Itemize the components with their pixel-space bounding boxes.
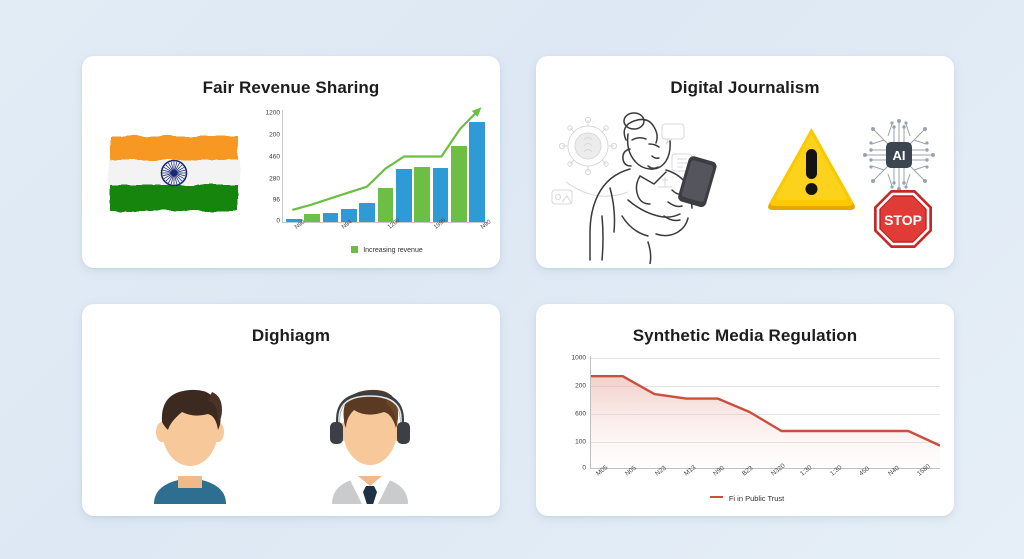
card-title-synthetic-media-regulation: Synthetic Media Regulation [536,326,954,346]
stop-sign-label: STOP [884,212,922,228]
journalist-illustration [544,104,754,264]
y-tick: 1000 [572,355,586,362]
card-body-dighiagm [82,352,500,510]
avatar-person-headset [304,364,436,504]
bar-chart-plot-area [282,110,488,223]
y-tick: 460 [269,154,280,161]
y-tick: 100 [575,439,586,446]
ai-chip-label: AI [893,148,906,163]
page-root: Fair Revenue Sharing [0,0,1024,559]
line-chart-legend: Fi in Public Trust [554,494,940,503]
y-tick: 600 [575,411,586,418]
line-series [591,356,940,468]
card-fair-revenue-sharing[interactable]: Fair Revenue Sharing [82,56,500,268]
stop-sign-icon: STOP [872,188,934,250]
line-chart-x-axis-labels: M05N05N23M13N90B23N3201;301;30450N401580 [590,470,940,496]
card-grid: Fair Revenue Sharing [82,56,954,504]
legend-swatch [351,246,358,253]
card-digital-journalism[interactable]: Digital Journalism [536,56,954,268]
legend-dash [710,496,723,499]
ai-chip-icon: AI [858,114,940,196]
line-chart-plot-area [590,356,940,469]
avatar-person-blue-shirt [124,364,256,504]
y-tick: 0 [276,218,280,225]
legend-label: Fi in Public Trust [729,494,784,503]
y-tick: 280 [269,176,280,183]
warning-icon [764,122,859,217]
card-title-dighiagm: Dighiagm [82,326,500,346]
card-synthetic-media-regulation[interactable]: Synthetic Media Regulation 1000 200 600 … [536,304,954,516]
india-flag-image [100,120,248,230]
y-tick: 200 [575,383,586,390]
card-dighiagm[interactable]: Dighiagm [82,304,500,516]
trend-line [283,110,488,222]
bar-chart-legend: Increasing revenue [282,246,492,254]
legend-label: Increasing revenue [363,247,423,254]
bar-chart-increasing-revenue: 1200 200 460 280 96 0 N90N94 [254,110,492,262]
y-tick: 0 [582,465,586,472]
y-tick: 200 [269,132,280,139]
line-chart-y-axis: 1000 200 600 100 0 [554,356,586,468]
bar-chart-y-axis: 1200 200 460 280 96 0 [254,110,280,222]
card-title-digital-journalism: Digital Journalism [536,78,954,98]
y-tick: 96 [273,197,280,204]
card-body-digital-journalism: AI STOP [536,104,954,262]
card-title-fair-revenue-sharing: Fair Revenue Sharing [82,78,500,98]
y-tick: 1200 [266,110,280,117]
line-chart-public-trust: 1000 200 600 100 0 [554,356,940,506]
card-body-fair-revenue-sharing: 1200 200 460 280 96 0 N90N94 [82,104,500,262]
card-body-synthetic-media-regulation: 1000 200 600 100 0 [536,352,954,510]
